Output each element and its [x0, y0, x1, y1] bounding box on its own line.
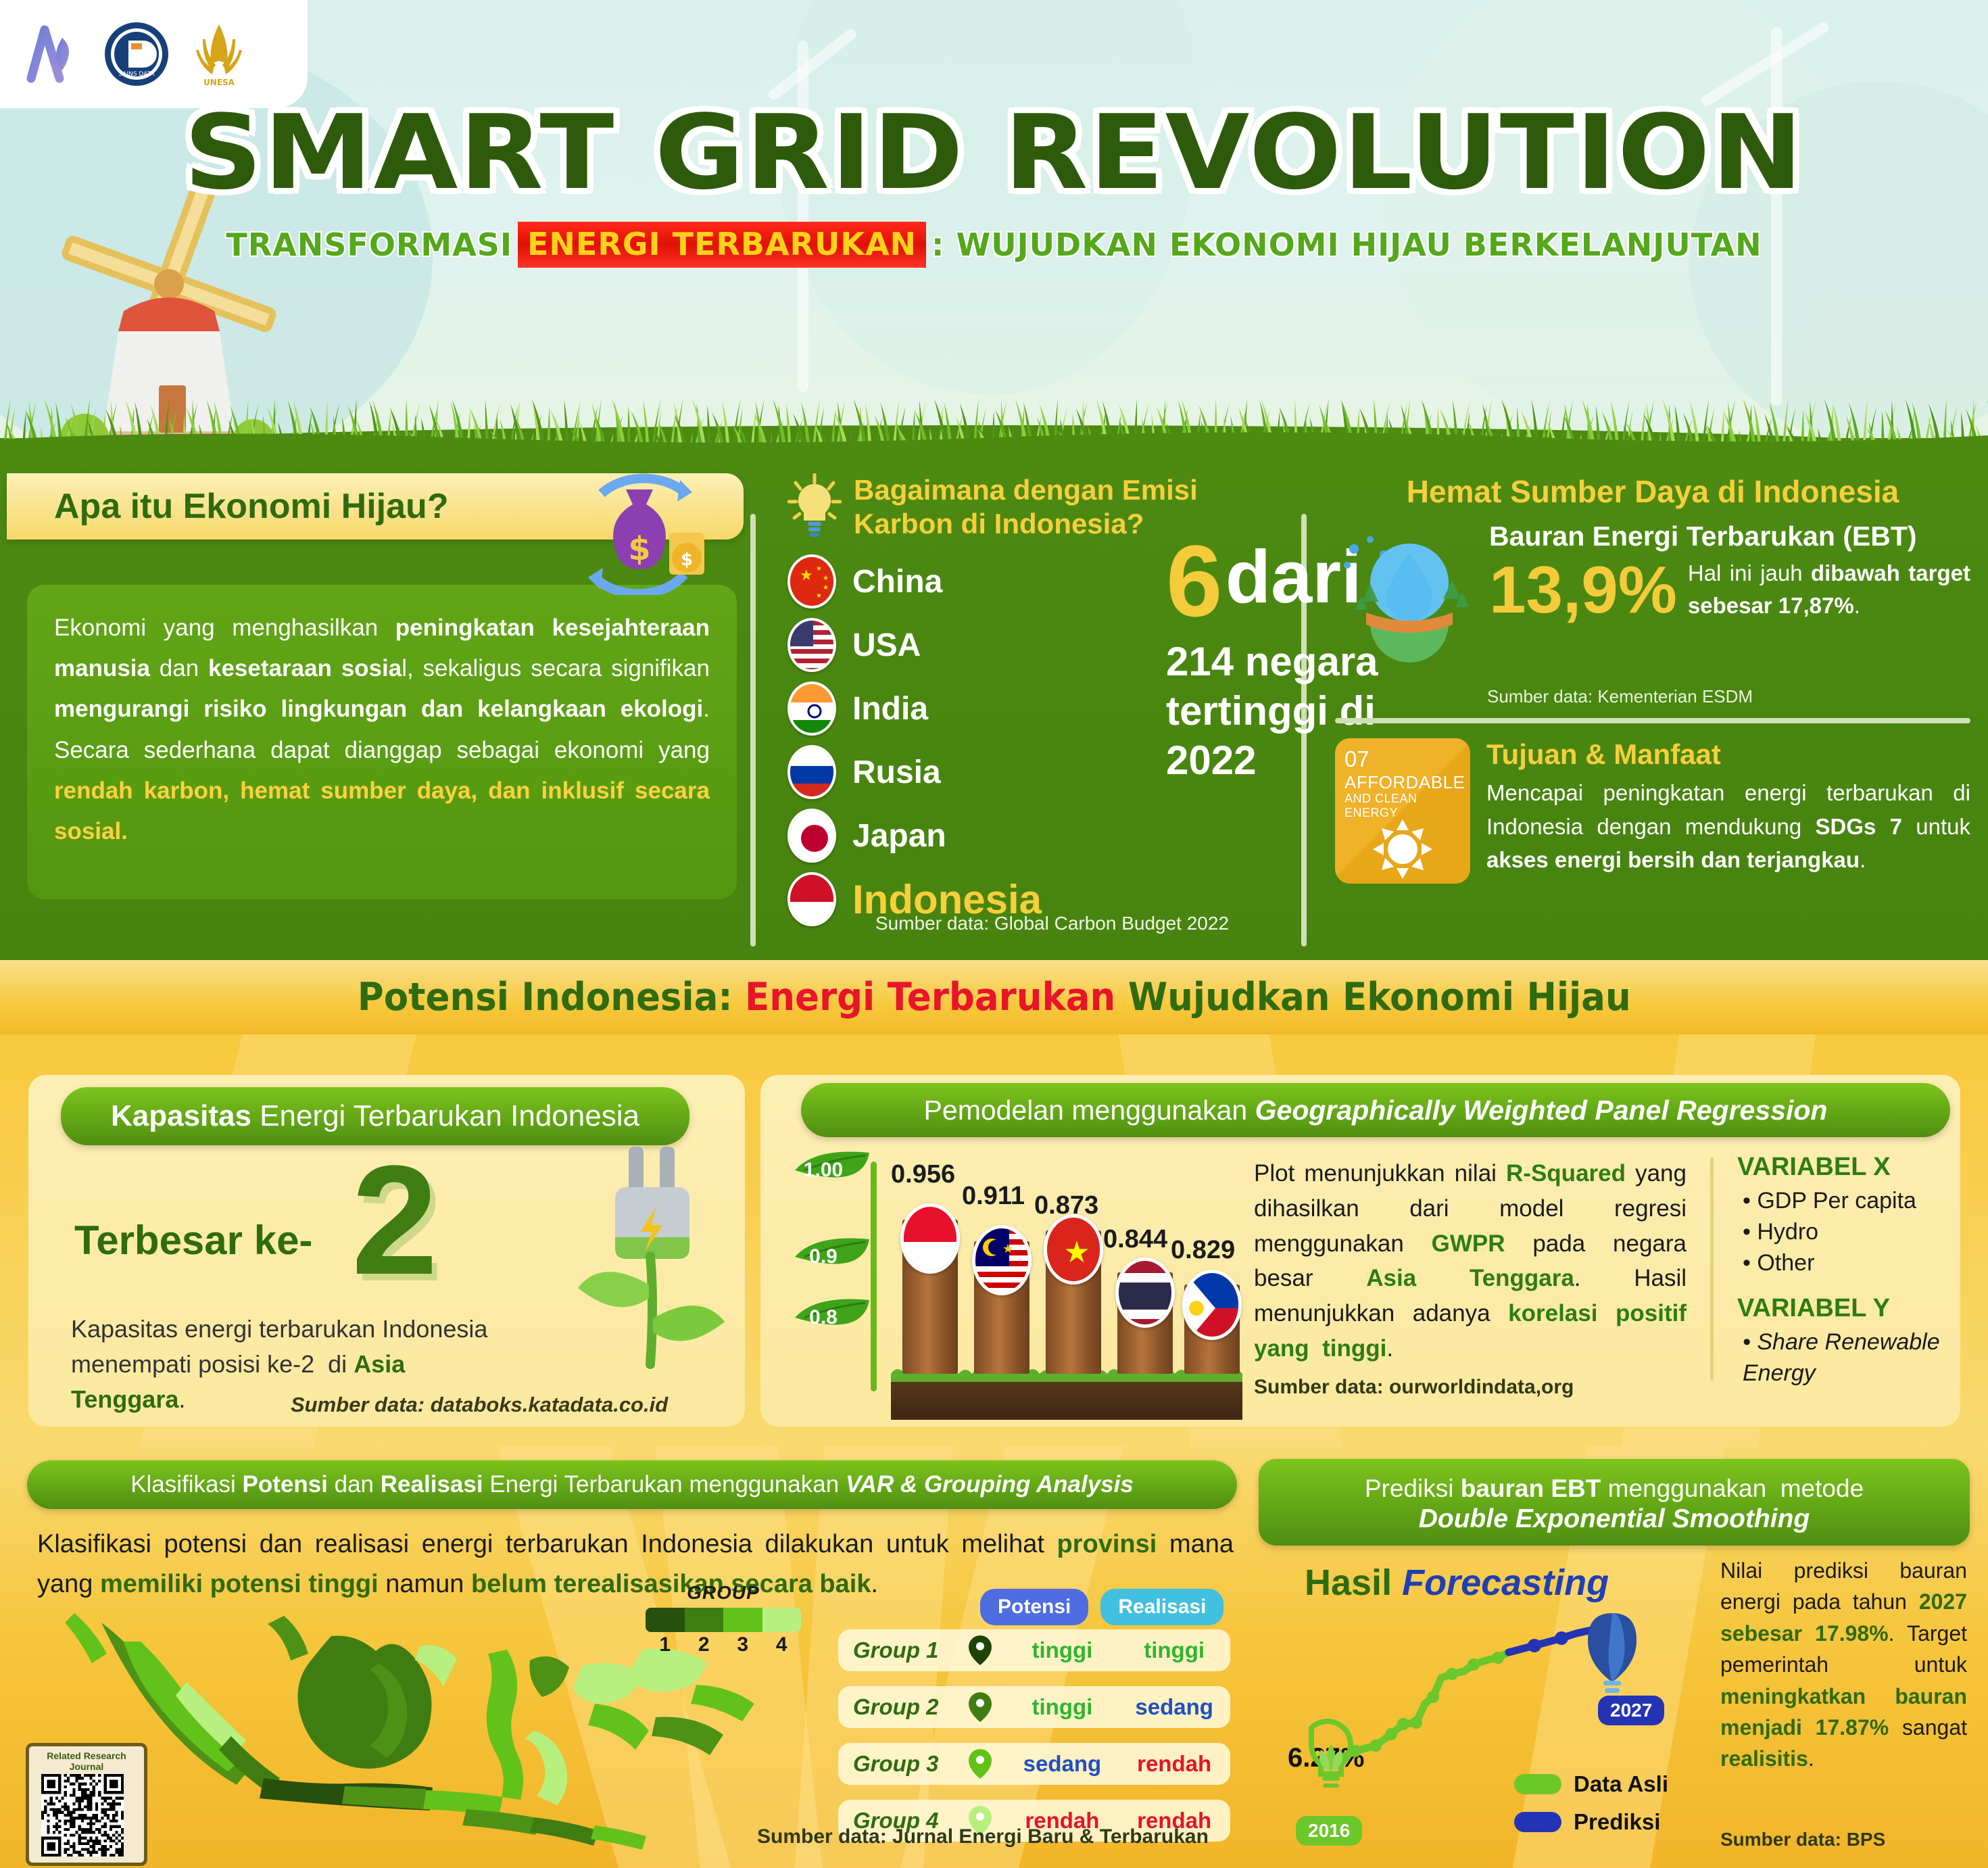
forecast-line-chart: [1271, 1589, 1744, 1859]
bar-value-malaysia: 0.911: [962, 1182, 1025, 1211]
prediksi-title-pill: Prediksi bauran EBT menggunakan metode D…: [1259, 1459, 1970, 1546]
philippines-flag-icon: [1182, 1270, 1242, 1340]
legend-swatch-prediksi: [1514, 1812, 1561, 1832]
variable-x-title: VARIABEL X: [1737, 1153, 1960, 1182]
indonesia-flag-icon: [900, 1203, 960, 1274]
china-flag-icon: ★★ ★★ ★: [787, 554, 836, 608]
himpunan-mahasiswa-sains-data-logo-icon: SAINS DATA: [103, 20, 170, 88]
qr-label: Related Research Journal: [32, 1750, 141, 1772]
kapasitas-rank-number: 2: [351, 1143, 438, 1298]
russia-flag-icon: [787, 745, 836, 799]
gwpr-title-pill: Pemodelan menggunakan Geographically Wei…: [801, 1083, 1950, 1137]
country-name: China: [852, 563, 942, 600]
table-row: Group 3 sedang rendah: [838, 1743, 1230, 1785]
svg-text:★: ★: [823, 584, 829, 592]
legend-number: 4: [762, 1633, 802, 1656]
column-header-potensi: Potensi: [980, 1589, 1088, 1625]
cell-realisasi: tinggi: [1118, 1637, 1230, 1663]
map-pin-icon: [969, 1749, 992, 1779]
vietnam-flag-icon: ★: [1044, 1214, 1103, 1285]
related-research-journal-qr[interactable]: Related Research Journal: [26, 1743, 147, 1866]
subtitle-part1: TRANSFORMASI: [226, 226, 512, 263]
gwpr-paragraph: Plot menunjukkan nilai R-Squared yang di…: [1254, 1156, 1687, 1366]
column-header-realisasi: Realisasi: [1100, 1589, 1223, 1625]
legend-swatch-3: [723, 1608, 762, 1632]
table-row: Group 2 tinggi sedang: [838, 1686, 1230, 1728]
variable-y-title: VARIABEL Y: [1737, 1294, 1960, 1323]
sdg-line2: AND CLEAN ENERGY: [1344, 792, 1461, 820]
svg-text:★: ★: [816, 565, 822, 573]
legend-number: 2: [685, 1633, 724, 1656]
group-label: Group 2: [853, 1694, 969, 1720]
klasifikasi-title: Klasifikasi Potensi dan Realisasi Energi…: [130, 1471, 1134, 1498]
thailand-flag-icon: [1115, 1258, 1175, 1328]
ebt-value: 13,9%: [1489, 556, 1677, 623]
rank-number: 6: [1166, 534, 1222, 627]
legend-swatch-2: [685, 1608, 724, 1632]
y-tick-1: 1.00: [791, 1149, 872, 1191]
logo-card: SAINS DATA UNESA: [0, 0, 308, 108]
country-name: Rusia: [852, 754, 941, 791]
table-row: Group 1 tinggi tinggi: [838, 1629, 1230, 1671]
country-name: Japan: [852, 817, 946, 855]
svg-text:★: ★: [823, 575, 829, 582]
unesa-logo-icon: UNESA: [185, 20, 253, 88]
prediksi-source: Sumber data: BPS: [1720, 1829, 1885, 1850]
green-economy-paragraph: Ekonomi yang menghasilkan peningkatan ke…: [54, 608, 710, 852]
column-divider: [750, 514, 756, 947]
banner-part1: Potensi Indonesia:: [358, 975, 745, 1020]
legend-label-prediksi: Prediksi: [1574, 1809, 1660, 1835]
prediksi-title-line1: Prediksi bauran EBT menggunakan metode: [1365, 1475, 1864, 1503]
malaysia-flag-icon: ★: [972, 1225, 1032, 1295]
ebt-source-label: Sumber data: Kementerian ESDM: [1487, 686, 1970, 707]
banner-part2: Wujudkan Ekonomi Hijau: [1115, 975, 1630, 1020]
legend-swatch-4: [762, 1608, 802, 1632]
legend-entry-data-asli: Data Asli: [1514, 1771, 1668, 1797]
legend-title: GROUP: [646, 1582, 801, 1604]
carbon-source-label: Sumber data: Global Carbon Budget 2022: [875, 913, 1229, 934]
group-label: Group 3: [853, 1751, 969, 1777]
potensi-banner: Potensi Indonesia: Energi Terbarukan Wuj…: [0, 960, 1988, 1034]
variable-y-list: Share Renewable Energy: [1737, 1327, 1960, 1389]
list-item: Japan: [787, 804, 1288, 867]
cell-realisasi: sedang: [1118, 1694, 1230, 1720]
legend-numbers: 1 2 3 4: [646, 1633, 801, 1656]
indonesia-flag-icon: [787, 872, 836, 926]
green-economy-title: Apa itu Ekonomi Hijau?: [54, 486, 449, 527]
legend-swatch-data-asli: [1514, 1774, 1561, 1794]
kapasitas-title-bold: Kapasitas: [111, 1099, 251, 1132]
resource-saving-title: Hemat Sumber Daya di Indonesia: [1335, 473, 1970, 510]
legend-label-data-asli: Data Asli: [1574, 1771, 1668, 1797]
svg-text:★: ★: [800, 567, 813, 583]
page-title: SMART GRID REVOLUTION: [0, 101, 1988, 204]
gwpr-description: Plot menunjukkan nilai R-Squared yang di…: [1254, 1156, 1687, 1366]
usa-flag-icon: [787, 618, 836, 672]
gwpr-title-plain: Pemodelan menggunakan: [924, 1095, 1255, 1126]
grass-tufts: [0, 370, 1988, 452]
kapasitas-rank-label: Terbesar ke-: [74, 1217, 312, 1264]
y-tick-2: 0.9: [791, 1236, 872, 1278]
svg-text:$: $: [681, 550, 693, 570]
prediksi-title-line2: Double Exponential Smoothing: [1419, 1504, 1810, 1534]
cell-potensi: tinggi: [1007, 1694, 1119, 1720]
svg-text:UNESA: UNESA: [203, 78, 235, 87]
earth-water-drop-icon: [1335, 534, 1484, 679]
y-tick-3: 0.8: [791, 1297, 872, 1339]
sun-icon: [1372, 818, 1434, 880]
legend-number: 1: [646, 1633, 685, 1656]
gwpr-bar-chart: 1.00 0.9 0.8 0.956: [784, 1149, 1251, 1420]
sdg-line1: AFFORDABLE: [1344, 773, 1461, 792]
forecast-legend: Data Asli Prediksi: [1514, 1771, 1668, 1847]
group-table: Group 1 tinggi tinggi Group 2 tinggi sed…: [838, 1629, 1230, 1857]
list-item: Other: [1737, 1248, 1960, 1279]
title-block: SMART GRID REVOLUTION TRANSFORMASI ENERG…: [0, 101, 1988, 268]
ebt-label: Bauran Energi Terbarukan (EBT): [1489, 521, 1970, 552]
kapasitas-source: Sumber data: databoks.katadata.co.id: [291, 1393, 668, 1417]
japan-flag-icon: [787, 809, 836, 863]
legend-number: 3: [723, 1633, 762, 1656]
bar-value-thailand: 0.844: [1103, 1225, 1167, 1254]
svg-text:$: $: [628, 530, 650, 568]
cell-potensi: tinggi: [1007, 1637, 1119, 1663]
svg-text:★: ★: [816, 592, 822, 600]
lightbulb-icon: [787, 473, 842, 538]
svg-text:★: ★: [1002, 1242, 1013, 1255]
legend-swatch-1: [646, 1608, 685, 1632]
goal-title: Tujuan & Manfaat: [1486, 738, 1970, 771]
kapasitas-title-rest: Energi Terbarukan Indonesia: [251, 1099, 639, 1132]
carbon-emission-column: Bagaimana dengan Emisi Karbon di Indones…: [787, 473, 1288, 931]
bar-value-philippines: 0.829: [1171, 1236, 1235, 1265]
subtitle-part2: : WUJUDKAN EKONOMI HIJAU BERKELANJUTAN: [931, 226, 1762, 263]
variables-panel: VARIABEL X GDP Per capita Hydro Other VA…: [1737, 1153, 1960, 1404]
subtitle-highlight: ENERGI TERBARUKAN: [518, 222, 926, 268]
variable-x-list: GDP Per capita Hydro Other: [1737, 1186, 1960, 1279]
map-legend: GROUP 1 2 3 4: [646, 1582, 801, 1656]
legend-swatches: [646, 1608, 801, 1632]
plug-plant-icon: [527, 1143, 730, 1379]
agilent-a-logo-icon: [20, 20, 88, 88]
legend-entry-prediksi: Prediksi: [1514, 1809, 1668, 1835]
map-pin-icon: [969, 1692, 992, 1722]
prediksi-description: Nilai prediksi bauran energi pada tahun …: [1720, 1555, 1967, 1775]
map-pin-icon: [969, 1635, 992, 1665]
ebt-description: Hal ini jauh dibawah target sebesar 17,8…: [1688, 557, 1970, 622]
page-subtitle: TRANSFORMASI ENERGI TERBARUKAN : WUJUDKA…: [0, 222, 1988, 268]
bar-value-vietnam: 0.873: [1034, 1191, 1098, 1220]
india-flag-icon: [787, 681, 836, 736]
blue-balloon-icon: [1588, 1613, 1637, 1693]
banner-highlight: Energi Terbarukan: [745, 975, 1115, 1020]
gwpr-source: Sumber data: ourworldindata,org: [1254, 1376, 1574, 1399]
section-divider: [1335, 718, 1970, 723]
bar-value-indonesia: 0.956: [891, 1160, 955, 1189]
svg-text:★: ★: [1063, 1236, 1090, 1269]
gwpr-vertical-divider: [1710, 1157, 1714, 1381]
list-item: Share Renewable Energy: [1737, 1327, 1960, 1389]
qr-code-icon: [32, 1774, 133, 1857]
klasifikasi-source: Sumber data: Jurnal Energi Baru & Terbar…: [757, 1825, 1209, 1848]
cell-potensi: sedang: [1007, 1751, 1119, 1777]
sdg7-badge: 07 AFFORDABLE AND CLEAN ENERGY: [1335, 738, 1470, 884]
goal-text: Mencapai peningkatan energi terbarukan d…: [1486, 776, 1970, 877]
cell-realisasi: rendah: [1118, 1751, 1230, 1777]
group-label: Group 1: [853, 1637, 969, 1663]
group-table-headers: Potensi Realisasi: [980, 1589, 1223, 1625]
carbon-emission-title: Bagaimana dengan Emisi Karbon di Indones…: [854, 473, 1288, 540]
money-recycle-icon: $ $: [568, 473, 717, 595]
list-item: Hydro: [1737, 1217, 1960, 1248]
svg-text:SAINS DATA: SAINS DATA: [118, 71, 155, 78]
country-name: USA: [852, 627, 921, 664]
klasifikasi-title-pill: Klasifikasi Potensi dan Realisasi Energi…: [27, 1460, 1237, 1509]
sdg-number: 07: [1344, 746, 1461, 772]
infographic-page: SAINS DATA UNESA: [0, 0, 1988, 1868]
list-item: GDP Per capita: [1737, 1186, 1960, 1217]
resource-saving-column: Hemat Sumber Daya di Indonesia Bau: [1335, 473, 1970, 884]
green-economy-definition-card: Ekonomi yang menghasilkan peningkatan ke…: [27, 585, 737, 899]
gwpr-title-italic: Geographically Weighted Panel Regression: [1255, 1095, 1828, 1126]
country-name: India: [852, 690, 928, 727]
